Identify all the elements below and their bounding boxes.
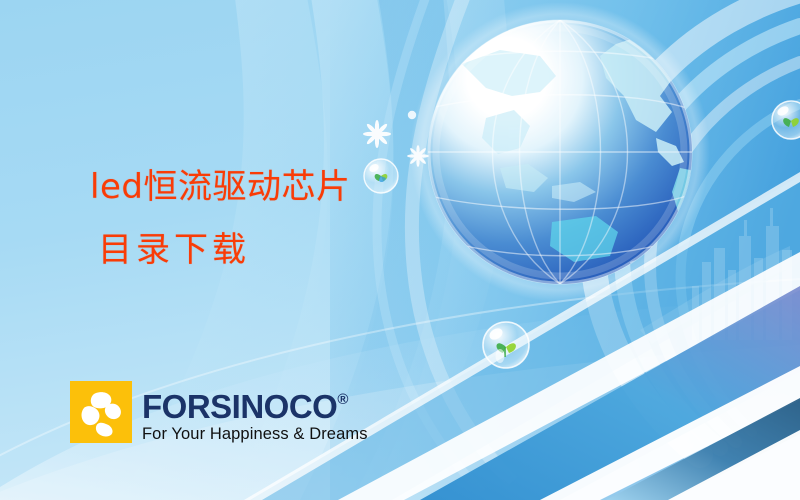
promo-banner: led恒流驱动芯片 目录下载 FORSINOCO® For Your Happi… bbox=[0, 0, 800, 500]
logo-text-block: FORSINOCO® For Your Happiness & Dreams bbox=[142, 381, 368, 444]
logo-wordmark: FORSINOCO® bbox=[142, 383, 368, 424]
sparkle-star-tiny bbox=[408, 111, 416, 119]
bubble-pinwheel-top bbox=[364, 159, 398, 193]
headline-line-1: led恒流驱动芯片 bbox=[90, 170, 350, 204]
logo-tagline: For Your Happiness & Dreams bbox=[142, 425, 368, 444]
logo-wordmark-text: FORSINOCO bbox=[142, 388, 337, 425]
bubble-pinwheel-bottom bbox=[483, 322, 529, 368]
sparkle-star-small bbox=[407, 145, 429, 167]
registered-trademark-symbol: ® bbox=[337, 391, 348, 408]
forsinoco-petal-mark bbox=[70, 381, 132, 443]
headline-line-2: 目录下载 bbox=[98, 233, 250, 267]
company-logo[interactable]: FORSINOCO® For Your Happiness & Dreams bbox=[70, 381, 368, 443]
sparkle-star-large bbox=[363, 120, 391, 148]
